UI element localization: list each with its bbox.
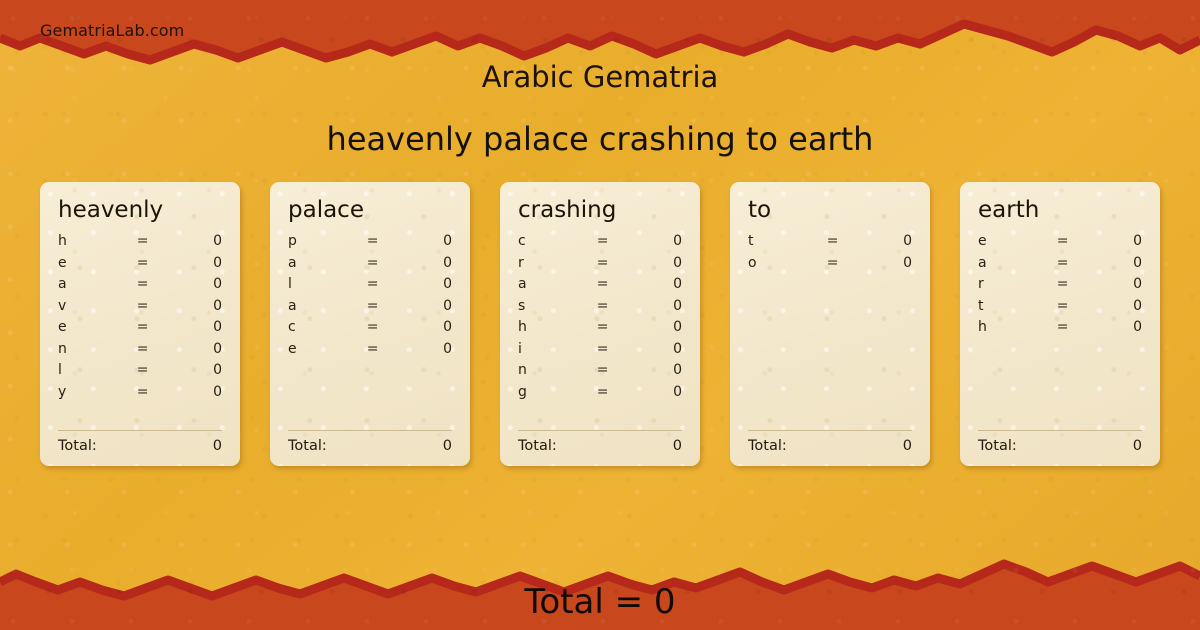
equals-sign: = (597, 298, 633, 314)
letter-value: 0 (403, 255, 452, 271)
letter-value: 0 (1093, 319, 1142, 335)
letter-row: h = 0 (518, 319, 682, 341)
equals-sign: = (1057, 233, 1093, 249)
card-divider (748, 430, 912, 431)
letter-row: l = 0 (288, 276, 452, 298)
equals-sign: = (827, 233, 863, 249)
letter: l (58, 362, 137, 378)
letter: a (978, 255, 1057, 271)
letter: r (978, 276, 1057, 292)
equals-sign: = (1057, 276, 1093, 292)
letter-row: r = 0 (978, 276, 1142, 298)
letter-row: h = 0 (58, 233, 222, 255)
letter-rows: c = 0 r = 0 a = 0 s = 0 (518, 233, 682, 426)
letter-value: 0 (633, 319, 682, 335)
equals-sign: = (597, 255, 633, 271)
letter: t (978, 298, 1057, 314)
letter-row: e = 0 (288, 341, 452, 363)
letter-row: r = 0 (518, 255, 682, 277)
equals-sign: = (597, 341, 633, 357)
gematria-result-page: GematriaLab.com Arabic Gematria heavenly… (0, 0, 1200, 630)
card-total-row: Total: 0 (518, 438, 682, 454)
letter-row: e = 0 (58, 255, 222, 277)
letter: y (58, 384, 137, 400)
letter: s (518, 298, 597, 314)
letter: r (518, 255, 597, 271)
letter: h (978, 319, 1057, 335)
letter-value: 0 (173, 276, 222, 292)
equals-sign: = (137, 319, 173, 335)
letter: a (288, 298, 367, 314)
letter-row: i = 0 (518, 341, 682, 363)
letter-rows: h = 0 e = 0 a = 0 v = 0 (58, 233, 222, 426)
card-divider (978, 430, 1142, 431)
letter-value: 0 (173, 319, 222, 335)
letter: p (288, 233, 367, 249)
card-total-row: Total: 0 (978, 438, 1142, 454)
equals-sign: = (137, 362, 173, 378)
letter-row: a = 0 (58, 276, 222, 298)
page-title: Arabic Gematria (0, 60, 1200, 94)
card-divider (518, 430, 682, 431)
card-total-label: Total: (288, 438, 327, 454)
letter-value: 0 (403, 341, 452, 357)
equals-sign: = (597, 319, 633, 335)
grand-total: Total = 0 (0, 582, 1200, 622)
letter-row: o = 0 (748, 255, 912, 277)
equals-sign: = (367, 255, 403, 271)
letter-value: 0 (633, 298, 682, 314)
letter-value: 0 (403, 298, 452, 314)
equals-sign: = (597, 233, 633, 249)
letter: c (518, 233, 597, 249)
letter-row: t = 0 (748, 233, 912, 255)
letter: i (518, 341, 597, 357)
letter-row: n = 0 (518, 362, 682, 384)
equals-sign: = (597, 362, 633, 378)
card-total-label: Total: (978, 438, 1017, 454)
letter: e (58, 255, 137, 271)
card-total-row: Total: 0 (288, 438, 452, 454)
letter-row: c = 0 (288, 319, 452, 341)
letter-row: g = 0 (518, 384, 682, 406)
card-total-value: 0 (443, 438, 452, 454)
equals-sign: = (1057, 255, 1093, 271)
card-word-title: palace (288, 198, 452, 223)
word-cards-row: heavenly h = 0 e = 0 a = 0 v (40, 182, 1160, 466)
equals-sign: = (367, 298, 403, 314)
letter-value: 0 (173, 341, 222, 357)
card-total-value: 0 (1133, 438, 1142, 454)
letter: o (748, 255, 827, 271)
letter-row: a = 0 (978, 255, 1142, 277)
letter-row: c = 0 (518, 233, 682, 255)
letter-row: s = 0 (518, 298, 682, 320)
letter-row: l = 0 (58, 362, 222, 384)
letter-value: 0 (173, 233, 222, 249)
equals-sign: = (367, 233, 403, 249)
letter-row: n = 0 (58, 341, 222, 363)
letter: h (58, 233, 137, 249)
letter: g (518, 384, 597, 400)
letter-row: a = 0 (518, 276, 682, 298)
letter-value: 0 (633, 384, 682, 400)
equals-sign: = (367, 341, 403, 357)
card-divider (288, 430, 452, 431)
letter-row: v = 0 (58, 298, 222, 320)
card-total-row: Total: 0 (748, 438, 912, 454)
letter-rows: p = 0 a = 0 l = 0 a = 0 (288, 233, 452, 426)
letter: e (288, 341, 367, 357)
letter-row: h = 0 (978, 319, 1142, 341)
letter-value: 0 (633, 276, 682, 292)
card-word-title: to (748, 198, 912, 223)
letter-value: 0 (863, 233, 912, 249)
card-total-value: 0 (213, 438, 222, 454)
word-card: earth e = 0 a = 0 r = 0 t (960, 182, 1160, 466)
letter-rows: e = 0 a = 0 r = 0 t = 0 (978, 233, 1142, 426)
equals-sign: = (827, 255, 863, 271)
letter-value: 0 (1093, 276, 1142, 292)
letter: n (518, 362, 597, 378)
letter-value: 0 (1093, 255, 1142, 271)
letter-value: 0 (173, 362, 222, 378)
letter: t (748, 233, 827, 249)
card-total-label: Total: (518, 438, 557, 454)
letter-value: 0 (633, 362, 682, 378)
letter-value: 0 (863, 255, 912, 271)
equals-sign: = (137, 384, 173, 400)
letter-value: 0 (633, 341, 682, 357)
letter: e (978, 233, 1057, 249)
letter: a (288, 255, 367, 271)
card-total-label: Total: (748, 438, 787, 454)
word-card: to t = 0 o = 0 Total: 0 (730, 182, 930, 466)
letter: a (58, 276, 137, 292)
letter-row: p = 0 (288, 233, 452, 255)
letter-rows: t = 0 o = 0 (748, 233, 912, 426)
letter: e (58, 319, 137, 335)
letter: a (518, 276, 597, 292)
equals-sign: = (1057, 319, 1093, 335)
card-word-title: crashing (518, 198, 682, 223)
word-card: palace p = 0 a = 0 l = 0 a (270, 182, 470, 466)
card-total-row: Total: 0 (58, 438, 222, 454)
letter-row: y = 0 (58, 384, 222, 406)
equals-sign: = (367, 319, 403, 335)
letter: v (58, 298, 137, 314)
letter: h (518, 319, 597, 335)
equals-sign: = (137, 233, 173, 249)
letter-row: e = 0 (978, 233, 1142, 255)
letter-row: a = 0 (288, 298, 452, 320)
letter-value: 0 (173, 298, 222, 314)
site-logo[interactable]: GematriaLab.com (40, 21, 184, 40)
equals-sign: = (137, 276, 173, 292)
equals-sign: = (1057, 298, 1093, 314)
letter-value: 0 (403, 233, 452, 249)
word-card: heavenly h = 0 e = 0 a = 0 v (40, 182, 240, 466)
equals-sign: = (597, 276, 633, 292)
card-word-title: earth (978, 198, 1142, 223)
phrase-heading: heavenly palace crashing to earth (0, 120, 1200, 158)
card-total-label: Total: (58, 438, 97, 454)
letter-row: a = 0 (288, 255, 452, 277)
card-total-value: 0 (903, 438, 912, 454)
letter-row: t = 0 (978, 298, 1142, 320)
equals-sign: = (367, 276, 403, 292)
letter: c (288, 319, 367, 335)
card-divider (58, 430, 222, 431)
letter: n (58, 341, 137, 357)
equals-sign: = (137, 255, 173, 271)
letter-value: 0 (1093, 298, 1142, 314)
letter-value: 0 (403, 276, 452, 292)
card-total-value: 0 (673, 438, 682, 454)
letter-value: 0 (173, 255, 222, 271)
letter: l (288, 276, 367, 292)
card-word-title: heavenly (58, 198, 222, 223)
equals-sign: = (137, 341, 173, 357)
word-card: crashing c = 0 r = 0 a = 0 s (500, 182, 700, 466)
letter-value: 0 (633, 233, 682, 249)
letter-value: 0 (1093, 233, 1142, 249)
letter-value: 0 (403, 319, 452, 335)
letter-row: e = 0 (58, 319, 222, 341)
equals-sign: = (597, 384, 633, 400)
equals-sign: = (137, 298, 173, 314)
letter-value: 0 (173, 384, 222, 400)
letter-value: 0 (633, 255, 682, 271)
